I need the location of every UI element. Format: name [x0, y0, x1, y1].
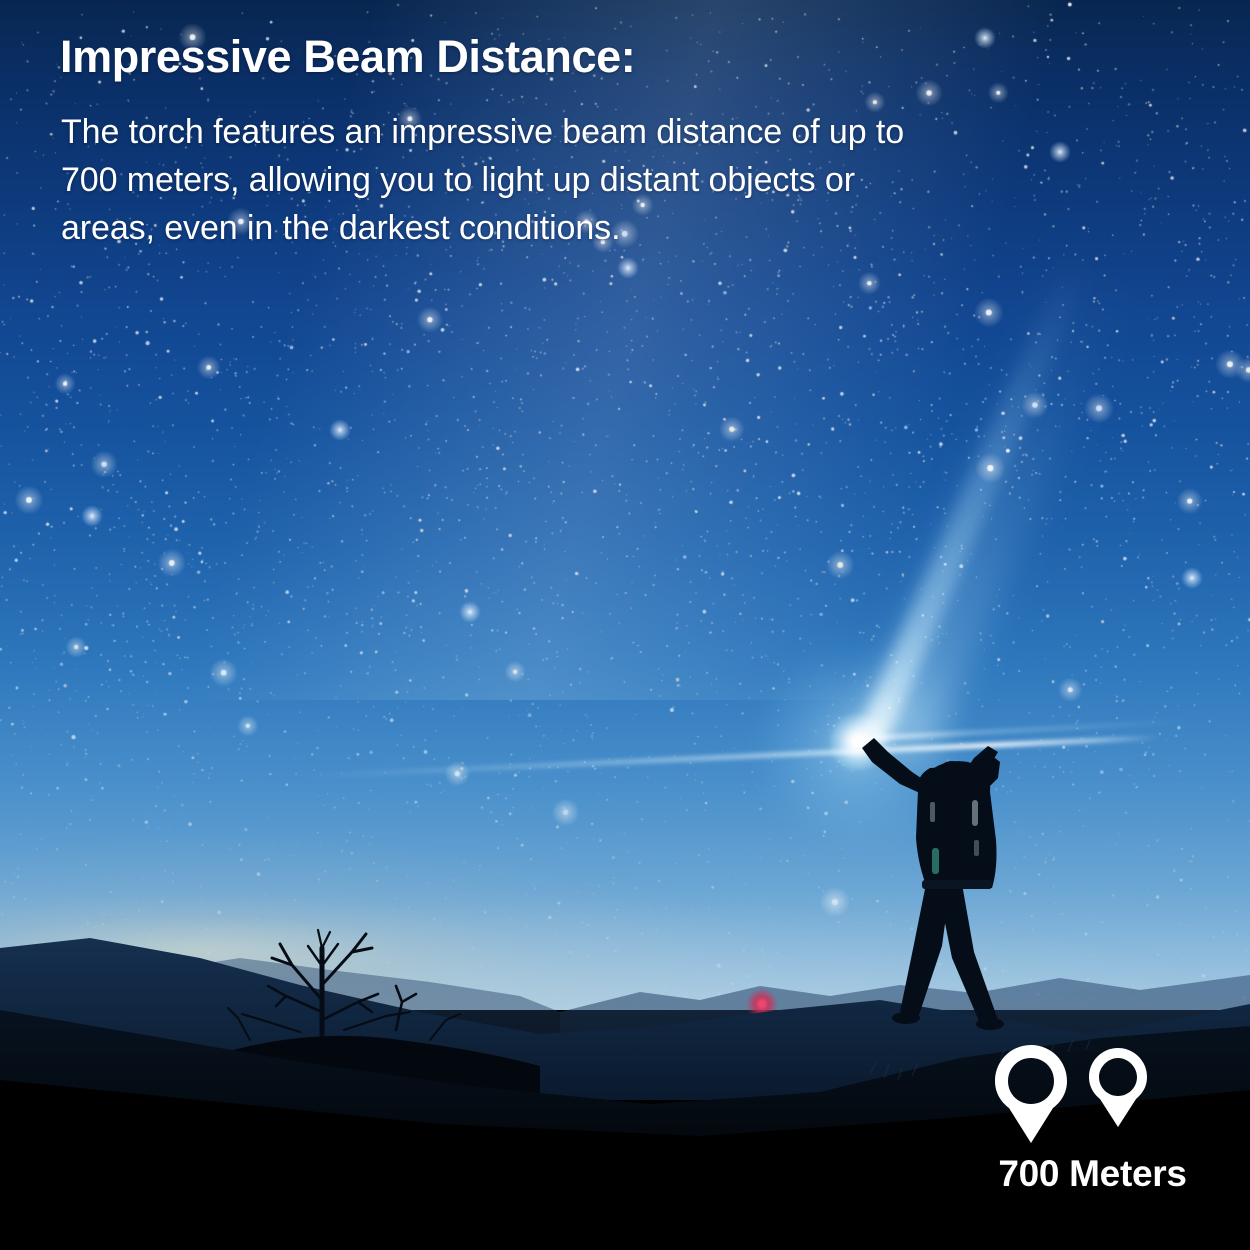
- description-line-3: areas, even in the darkest conditions.: [61, 204, 1141, 252]
- map-pins-svg: [985, 1043, 1200, 1148]
- map-pin-large: [995, 1045, 1067, 1143]
- description-text: The torch features an impressive beam di…: [61, 108, 1141, 252]
- page-title: Impressive Beam Distance:: [60, 33, 635, 80]
- description-line-1: The torch features an impressive beam di…: [61, 108, 1141, 156]
- distant-blue-light-core: [606, 1048, 610, 1052]
- distance-label: 700 Meters: [985, 1153, 1200, 1195]
- distant-blue-light: [596, 1038, 620, 1062]
- map-pin-group: [985, 1043, 1200, 1148]
- shrub-base: [200, 1036, 540, 1110]
- map-pin-small: [1089, 1048, 1147, 1127]
- promo-image: Impressive Beam Distance: The torch feat…: [0, 0, 1250, 1250]
- distance-badge: 700 Meters: [985, 1043, 1200, 1208]
- description-line-2: 700 meters, allowing you to light up dis…: [61, 156, 1141, 204]
